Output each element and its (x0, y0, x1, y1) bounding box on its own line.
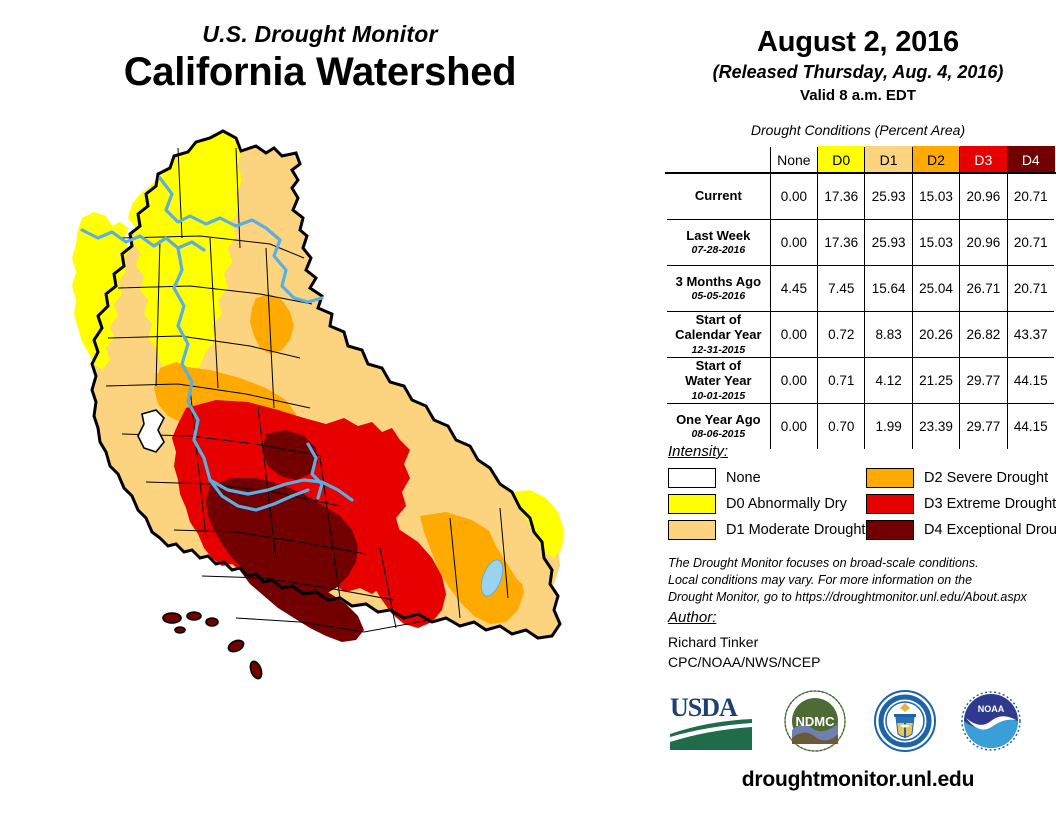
row-label-date: 10-01-2015 (667, 390, 770, 402)
legend-item: None (668, 466, 865, 490)
column-header-none: None (770, 146, 817, 173)
row-label-date: 12-31-2015 (667, 344, 770, 356)
svg-text:NDMC: NDMC (796, 714, 836, 729)
legend-column-left: NoneD0 Abnormally DryD1 Moderate Drought (668, 466, 865, 544)
cell-d3: 29.77 (960, 358, 1007, 404)
row-label-name: Current (667, 189, 770, 204)
cell-d4: 43.37 (1007, 312, 1055, 358)
cell-d0: 17.36 (818, 173, 865, 220)
legend-label: D3 Extreme Drought (924, 496, 1056, 512)
cell-d1: 8.83 (865, 312, 912, 358)
cell-d0: 17.36 (818, 220, 865, 266)
cell-d4: 20.71 (1007, 173, 1055, 220)
author-name: Richard Tinker (668, 632, 820, 652)
row-label-1: Last Week07-28-2016 (666, 220, 770, 266)
legend-label: None (726, 470, 761, 486)
cell-d2: 15.03 (912, 173, 959, 220)
cell-d4: 44.15 (1007, 404, 1055, 451)
table-body: Current0.0017.3625.9315.0320.9620.71Last… (666, 173, 1055, 450)
legend-item: D4 Exceptional Drought (866, 518, 1056, 542)
channel-islands (163, 612, 264, 680)
date-header-block: August 2, 2016 (Released Thursday, Aug. … (660, 26, 1056, 104)
column-header-d0: D0 (818, 146, 865, 173)
disclaimer-line-2: Local conditions may vary. For more info… (668, 572, 1056, 589)
legend-swatch (866, 520, 914, 540)
table-caption: Drought Conditions (Percent Area) (660, 122, 1056, 138)
map-title-block: U.S. Drought Monitor California Watershe… (0, 22, 640, 95)
page-title: California Watershed (0, 50, 640, 95)
legend-label: D2 Severe Drought (924, 470, 1048, 486)
cell-d0: 0.71 (818, 358, 865, 404)
table-row: 3 Months Ago05-05-20164.457.4515.6425.04… (666, 266, 1055, 312)
disclaimer-line-1: The Drought Monitor focuses on broad-sca… (668, 555, 1056, 572)
legend-column-right: D2 Severe DroughtD3 Extreme DroughtD4 Ex… (866, 466, 1056, 544)
cell-d2: 15.03 (912, 220, 959, 266)
row-label-name: One Year Ago (667, 413, 770, 428)
cell-none: 0.00 (770, 220, 817, 266)
legend-item: D3 Extreme Drought (866, 492, 1056, 516)
cell-d1: 25.93 (865, 220, 912, 266)
cell-d3: 20.96 (960, 173, 1007, 220)
noaa-logo: NOAA (960, 690, 1022, 752)
valid-time: Valid 8 a.m. EDT (660, 87, 1056, 104)
row-label-name: Last Week (667, 229, 770, 244)
cell-none: 0.00 (770, 358, 817, 404)
cell-none: 0.00 (770, 173, 817, 220)
column-header-d3: D3 (960, 146, 1007, 173)
row-label-0: Current (666, 173, 770, 220)
legend-item: D1 Moderate Drought (668, 518, 865, 542)
valid-date: August 2, 2016 (660, 26, 1056, 59)
product-title: U.S. Drought Monitor (0, 22, 640, 47)
disclaimer-text: The Drought Monitor focuses on broad-sca… (668, 555, 1056, 606)
legend-label: D0 Abnormally Dry (726, 496, 847, 512)
column-header-d1: D1 (865, 146, 912, 173)
california-watershed-map (60, 118, 660, 818)
logo-row: USDA NDMC (664, 690, 1056, 766)
row-label-3: Start ofCalendar Year12-31-2015 (666, 312, 770, 358)
cell-d1: 25.93 (865, 173, 912, 220)
cell-none: 0.00 (770, 404, 817, 451)
cell-d2: 20.26 (912, 312, 959, 358)
cell-d4: 20.71 (1007, 220, 1055, 266)
cell-d2: 21.25 (912, 358, 959, 404)
cell-d4: 20.71 (1007, 266, 1055, 312)
author-affiliation: CPC/NOAA/NWS/NCEP (668, 652, 820, 672)
table-row: Last Week07-28-20160.0017.3625.9315.0320… (666, 220, 1055, 266)
cell-d3: 29.77 (960, 404, 1007, 451)
cell-d1: 1.99 (865, 404, 912, 451)
row-label-date: 05-05-2016 (667, 290, 770, 302)
table-row: Start ofWater Year10-01-20150.000.714.12… (666, 358, 1055, 404)
cell-d0: 7.45 (818, 266, 865, 312)
row-label-name: 3 Months Ago (667, 275, 770, 290)
row-label-2: 3 Months Ago05-05-2016 (666, 266, 770, 312)
legend-item: D0 Abnormally Dry (668, 492, 865, 516)
legend-swatch (668, 520, 716, 540)
legend-label: D4 Exceptional Drought (924, 522, 1056, 538)
ndmc-logo: NDMC (784, 690, 846, 752)
row-label-date: 07-28-2016 (667, 244, 770, 256)
cell-d2: 23.39 (912, 404, 959, 451)
website-url: droughtmonitor.unl.edu (660, 768, 1056, 792)
row-label-date: 08-06-2015 (667, 428, 770, 440)
svg-text:NOAA: NOAA (978, 704, 1005, 714)
cell-d3: 20.96 (960, 220, 1007, 266)
cell-d2: 25.04 (912, 266, 959, 312)
cell-d0: 0.72 (818, 312, 865, 358)
row-label-4: Start ofWater Year10-01-2015 (666, 358, 770, 404)
cell-d3: 26.71 (960, 266, 1007, 312)
drought-monitor-page: U.S. Drought Monitor California Watershe… (0, 0, 1056, 816)
legend-item: D2 Severe Drought (866, 466, 1056, 490)
commerce-seal-logo (874, 690, 936, 752)
cell-none: 0.00 (770, 312, 817, 358)
legend-swatch (866, 494, 914, 514)
map-drought-layers (72, 131, 564, 680)
legend-label: D1 Moderate Drought (726, 522, 865, 538)
cell-d4: 44.15 (1007, 358, 1055, 404)
author-block: Richard Tinker CPC/NOAA/NWS/NCEP (668, 632, 820, 673)
disclaimer-line-3: Drought Monitor, go to https://droughtmo… (668, 589, 1056, 606)
column-header-d4: D4 (1007, 146, 1055, 173)
table-row: Start ofCalendar Year12-31-20150.000.728… (666, 312, 1055, 358)
legend-swatch (668, 494, 716, 514)
legend-swatch (866, 468, 914, 488)
cell-d3: 26.82 (960, 312, 1007, 358)
cell-d1: 4.12 (865, 358, 912, 404)
cell-none: 4.45 (770, 266, 817, 312)
author-label: Author: (668, 609, 716, 626)
svg-text:USDA: USDA (670, 693, 738, 722)
map-svg (60, 118, 660, 818)
legend-swatch (668, 468, 716, 488)
usda-logo: USDA (668, 690, 754, 752)
row-label-name: Start ofWater Year (667, 359, 770, 389)
drought-conditions-table: None D0 D1 D2 D3 D4 Current0.0017.3625.9… (665, 145, 1056, 451)
table-header-row: None D0 D1 D2 D3 D4 (666, 146, 1055, 173)
table-row: Current0.0017.3625.9315.0320.9620.71 (666, 173, 1055, 220)
row-label-name: Start ofCalendar Year (667, 313, 770, 343)
cell-d1: 15.64 (865, 266, 912, 312)
cell-d0: 0.70 (818, 404, 865, 451)
release-date: (Released Thursday, Aug. 4, 2016) (660, 62, 1056, 83)
legend-title: Intensity: (668, 443, 728, 460)
table-corner-cell (666, 146, 770, 173)
column-header-d2: D2 (912, 146, 959, 173)
